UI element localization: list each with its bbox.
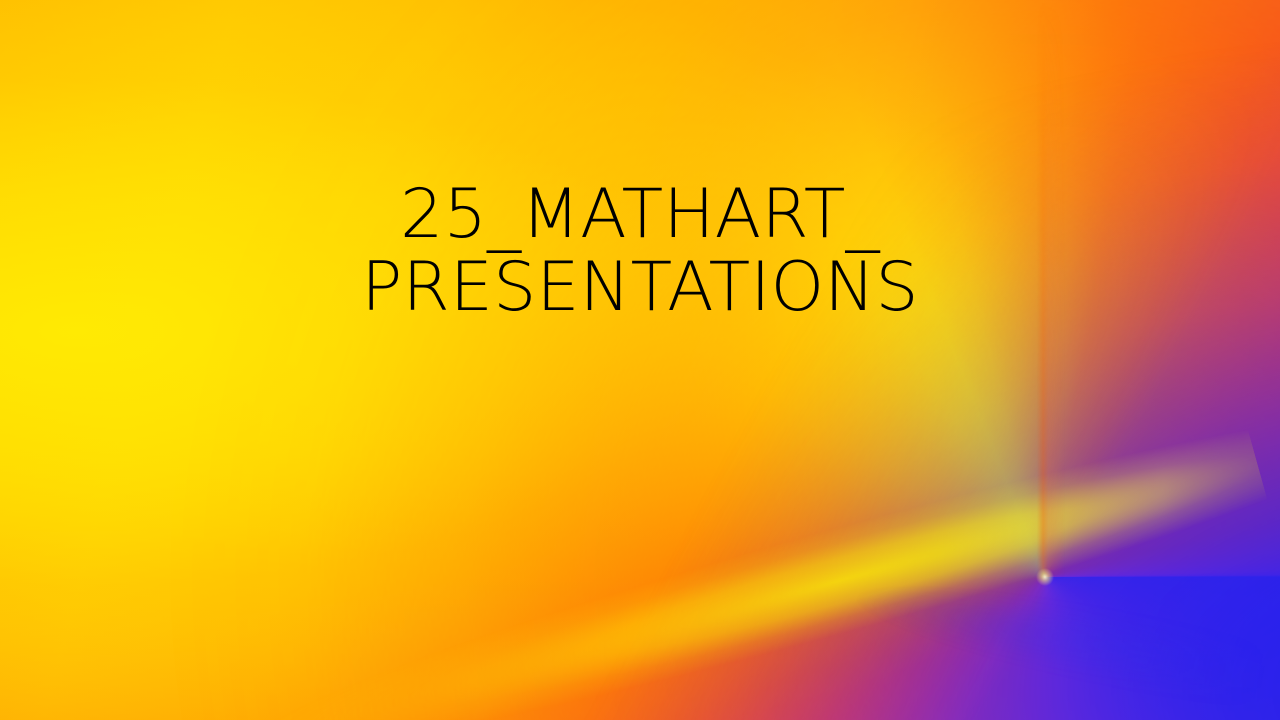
yellow-ray — [0, 0, 1280, 720]
background-vertical-shading — [0, 0, 1280, 720]
phase-hue-wheel — [0, 0, 1280, 720]
title-placeholder[interactable]: 25_MATHART_ PRESENTATIONS — [96, 178, 1184, 325]
blue-quadrant-field — [0, 0, 1280, 720]
background-yellow-core-glow — [0, 0, 1280, 720]
background-smoothing-overlay — [0, 0, 1280, 720]
singularity-pole — [0, 0, 1280, 720]
branch-cut-seam — [0, 0, 1280, 720]
background-base-gradient — [0, 0, 1280, 720]
blue-ray — [0, 0, 1280, 720]
page-title[interactable]: 25_MATHART_ PRESENTATIONS — [96, 178, 1184, 325]
title-slide: 25_MATHART_ PRESENTATIONS — [0, 0, 1280, 720]
